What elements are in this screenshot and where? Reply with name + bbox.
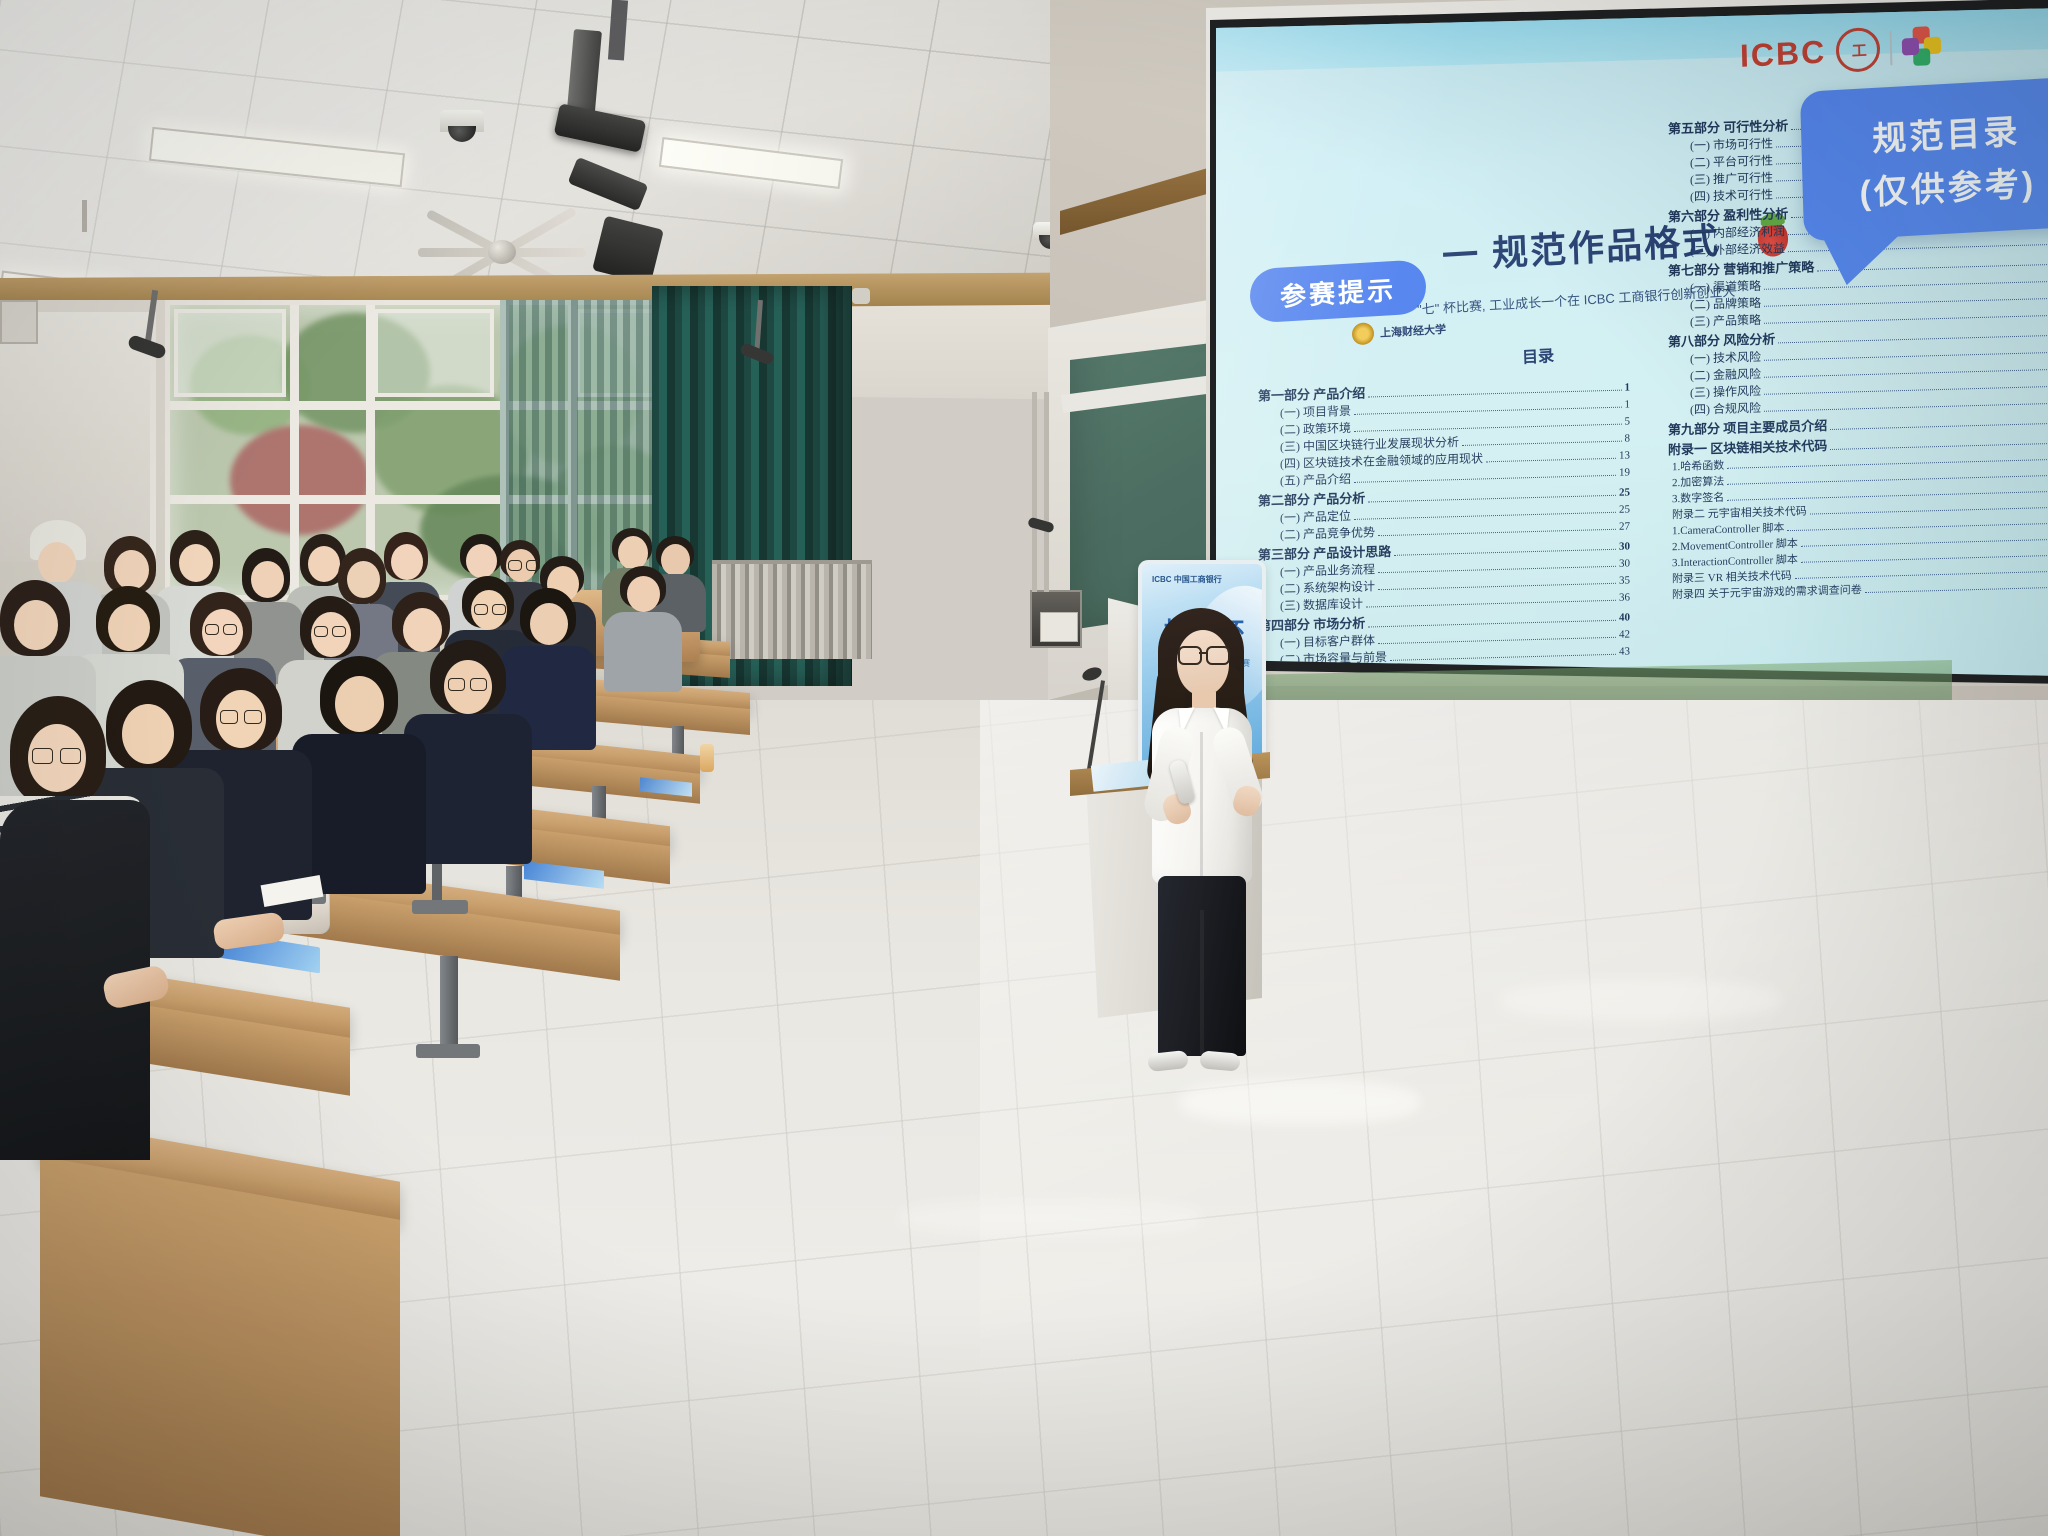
- toc-page-number: 25: [1619, 486, 1630, 498]
- drink-bottle: [700, 744, 714, 772]
- toc-entry-label: (一) 项目背景: [1280, 402, 1351, 421]
- toc-page-number: 27: [1619, 520, 1630, 532]
- toc-leader-dots: [1830, 422, 2048, 430]
- conduit-pipe: [1032, 392, 1037, 592]
- toc-entry-label: (二) 产品竞争优势: [1280, 523, 1375, 543]
- toc-entry-label: (四) 技术可行性: [1690, 186, 1773, 205]
- toc-page-number: 43: [1619, 645, 1630, 657]
- radiator: [712, 560, 872, 659]
- wall-outlet: [1040, 612, 1078, 642]
- toc-page-number: 13: [1619, 449, 1630, 461]
- toc-entry-label: (一) 技术风险: [1690, 348, 1761, 367]
- floor-reflection-2: [900, 1200, 1200, 1236]
- toc-page-number: 42: [1619, 628, 1630, 640]
- dome-camera-icon: [440, 110, 484, 132]
- desk-foot: [416, 1044, 480, 1058]
- wall-speaker: [0, 300, 38, 344]
- fan-hub: [488, 240, 516, 264]
- toc-page-number: 25: [1619, 503, 1630, 515]
- toc-page-number: 30: [1619, 557, 1630, 569]
- toc-entry-label: (一) 产品定位: [1280, 507, 1351, 526]
- toc-entry-label: (二) 金融风险: [1690, 365, 1761, 384]
- screen-surface: ICBC 工 参赛提示 一 规范作品格式: [1202, 0, 2048, 690]
- toc-entry-label: (三) 产品策略: [1690, 311, 1761, 330]
- callout-line-1: 规范目录: [1872, 104, 2021, 161]
- toc-page-number: 30: [1619, 540, 1630, 552]
- toc-page-number: 8: [1625, 432, 1631, 444]
- callout-bubble-tail: [1819, 226, 1911, 287]
- toc-page-number: 40: [1619, 611, 1630, 623]
- toc-entry-label: (二) 品牌策略: [1690, 294, 1761, 313]
- toc-entry-label: (二) 外部经济效益: [1690, 239, 1785, 259]
- toc-entry-label: (三) 数据库设计: [1280, 595, 1363, 614]
- toc-entry-label: (三) 操作风险: [1690, 382, 1761, 401]
- chair-foot: [412, 900, 468, 914]
- callout-line-2: (仅供参考): [1859, 156, 2037, 215]
- toc-entry-label: (一) 渠道策略: [1690, 277, 1761, 296]
- toc-page-number: 5: [1625, 415, 1631, 427]
- toc-page-number: 1: [1625, 381, 1631, 393]
- presenter-trousers: [1158, 876, 1246, 1056]
- desk-leg: [440, 956, 458, 1052]
- floor-reflection: [1180, 1080, 1420, 1124]
- presenter-shoe-left: [1147, 1050, 1189, 1072]
- toc-page-number: 36: [1619, 591, 1630, 603]
- toc-entry-label: (二) 政策环境: [1280, 419, 1351, 438]
- toc-page-number: 19: [1619, 466, 1630, 478]
- desk-row-front-panel: [40, 1156, 400, 1536]
- ceiling-fan-icon: [418, 228, 586, 280]
- toc-leader-dots: [1486, 457, 1616, 463]
- toc-entry-label: 3.数字签名: [1672, 489, 1724, 506]
- presenter: [1130, 608, 1270, 1078]
- callout-bubble: 规范目录 (仅供参考): [1800, 76, 2048, 242]
- projection-screen: ICBC 工 参赛提示 一 规范作品格式: [1178, 0, 2048, 726]
- eyeglasses-icon: [1178, 646, 1228, 662]
- toc-leader-dots: [1462, 440, 1622, 446]
- slide-content: ICBC 工 参赛提示 一 规范作品格式: [1202, 0, 2048, 690]
- classroom-photo: 5 力 ICBC 工: [0, 0, 2048, 1536]
- conduit-pipe-2: [1044, 392, 1049, 592]
- toc-entry-label: 2.加密算法: [1672, 473, 1724, 490]
- ceiling-fan-rod: [82, 200, 87, 232]
- toc-entry-label: 1.哈希函数: [1672, 457, 1724, 474]
- toc-page-number: 1: [1625, 398, 1631, 410]
- toc-leader-dots: [1390, 653, 1616, 661]
- toc-leader-dots: [1865, 586, 2048, 593]
- toc-entry-label: (五) 产品介绍: [1280, 470, 1351, 489]
- presenter-shirt-placket: [1200, 732, 1203, 880]
- banner-sponsor-mark: ICBC 中国工商银行: [1152, 574, 1222, 585]
- toc-page-number: 35: [1619, 574, 1630, 586]
- toc-entry-label: (四) 合规风险: [1690, 399, 1761, 418]
- presenter-shoe-right: [1199, 1050, 1240, 1071]
- toc-column-left: 第一部分 产品介绍1(一) 项目背景1(二) 政策环境5(三) 中国区块链行业发…: [1258, 374, 1630, 668]
- toc-entry-label: 第七部分 营销和推广策略: [1668, 256, 1814, 279]
- floor-reflection-3: [1500, 980, 1780, 1020]
- wall-bracket: [852, 288, 870, 304]
